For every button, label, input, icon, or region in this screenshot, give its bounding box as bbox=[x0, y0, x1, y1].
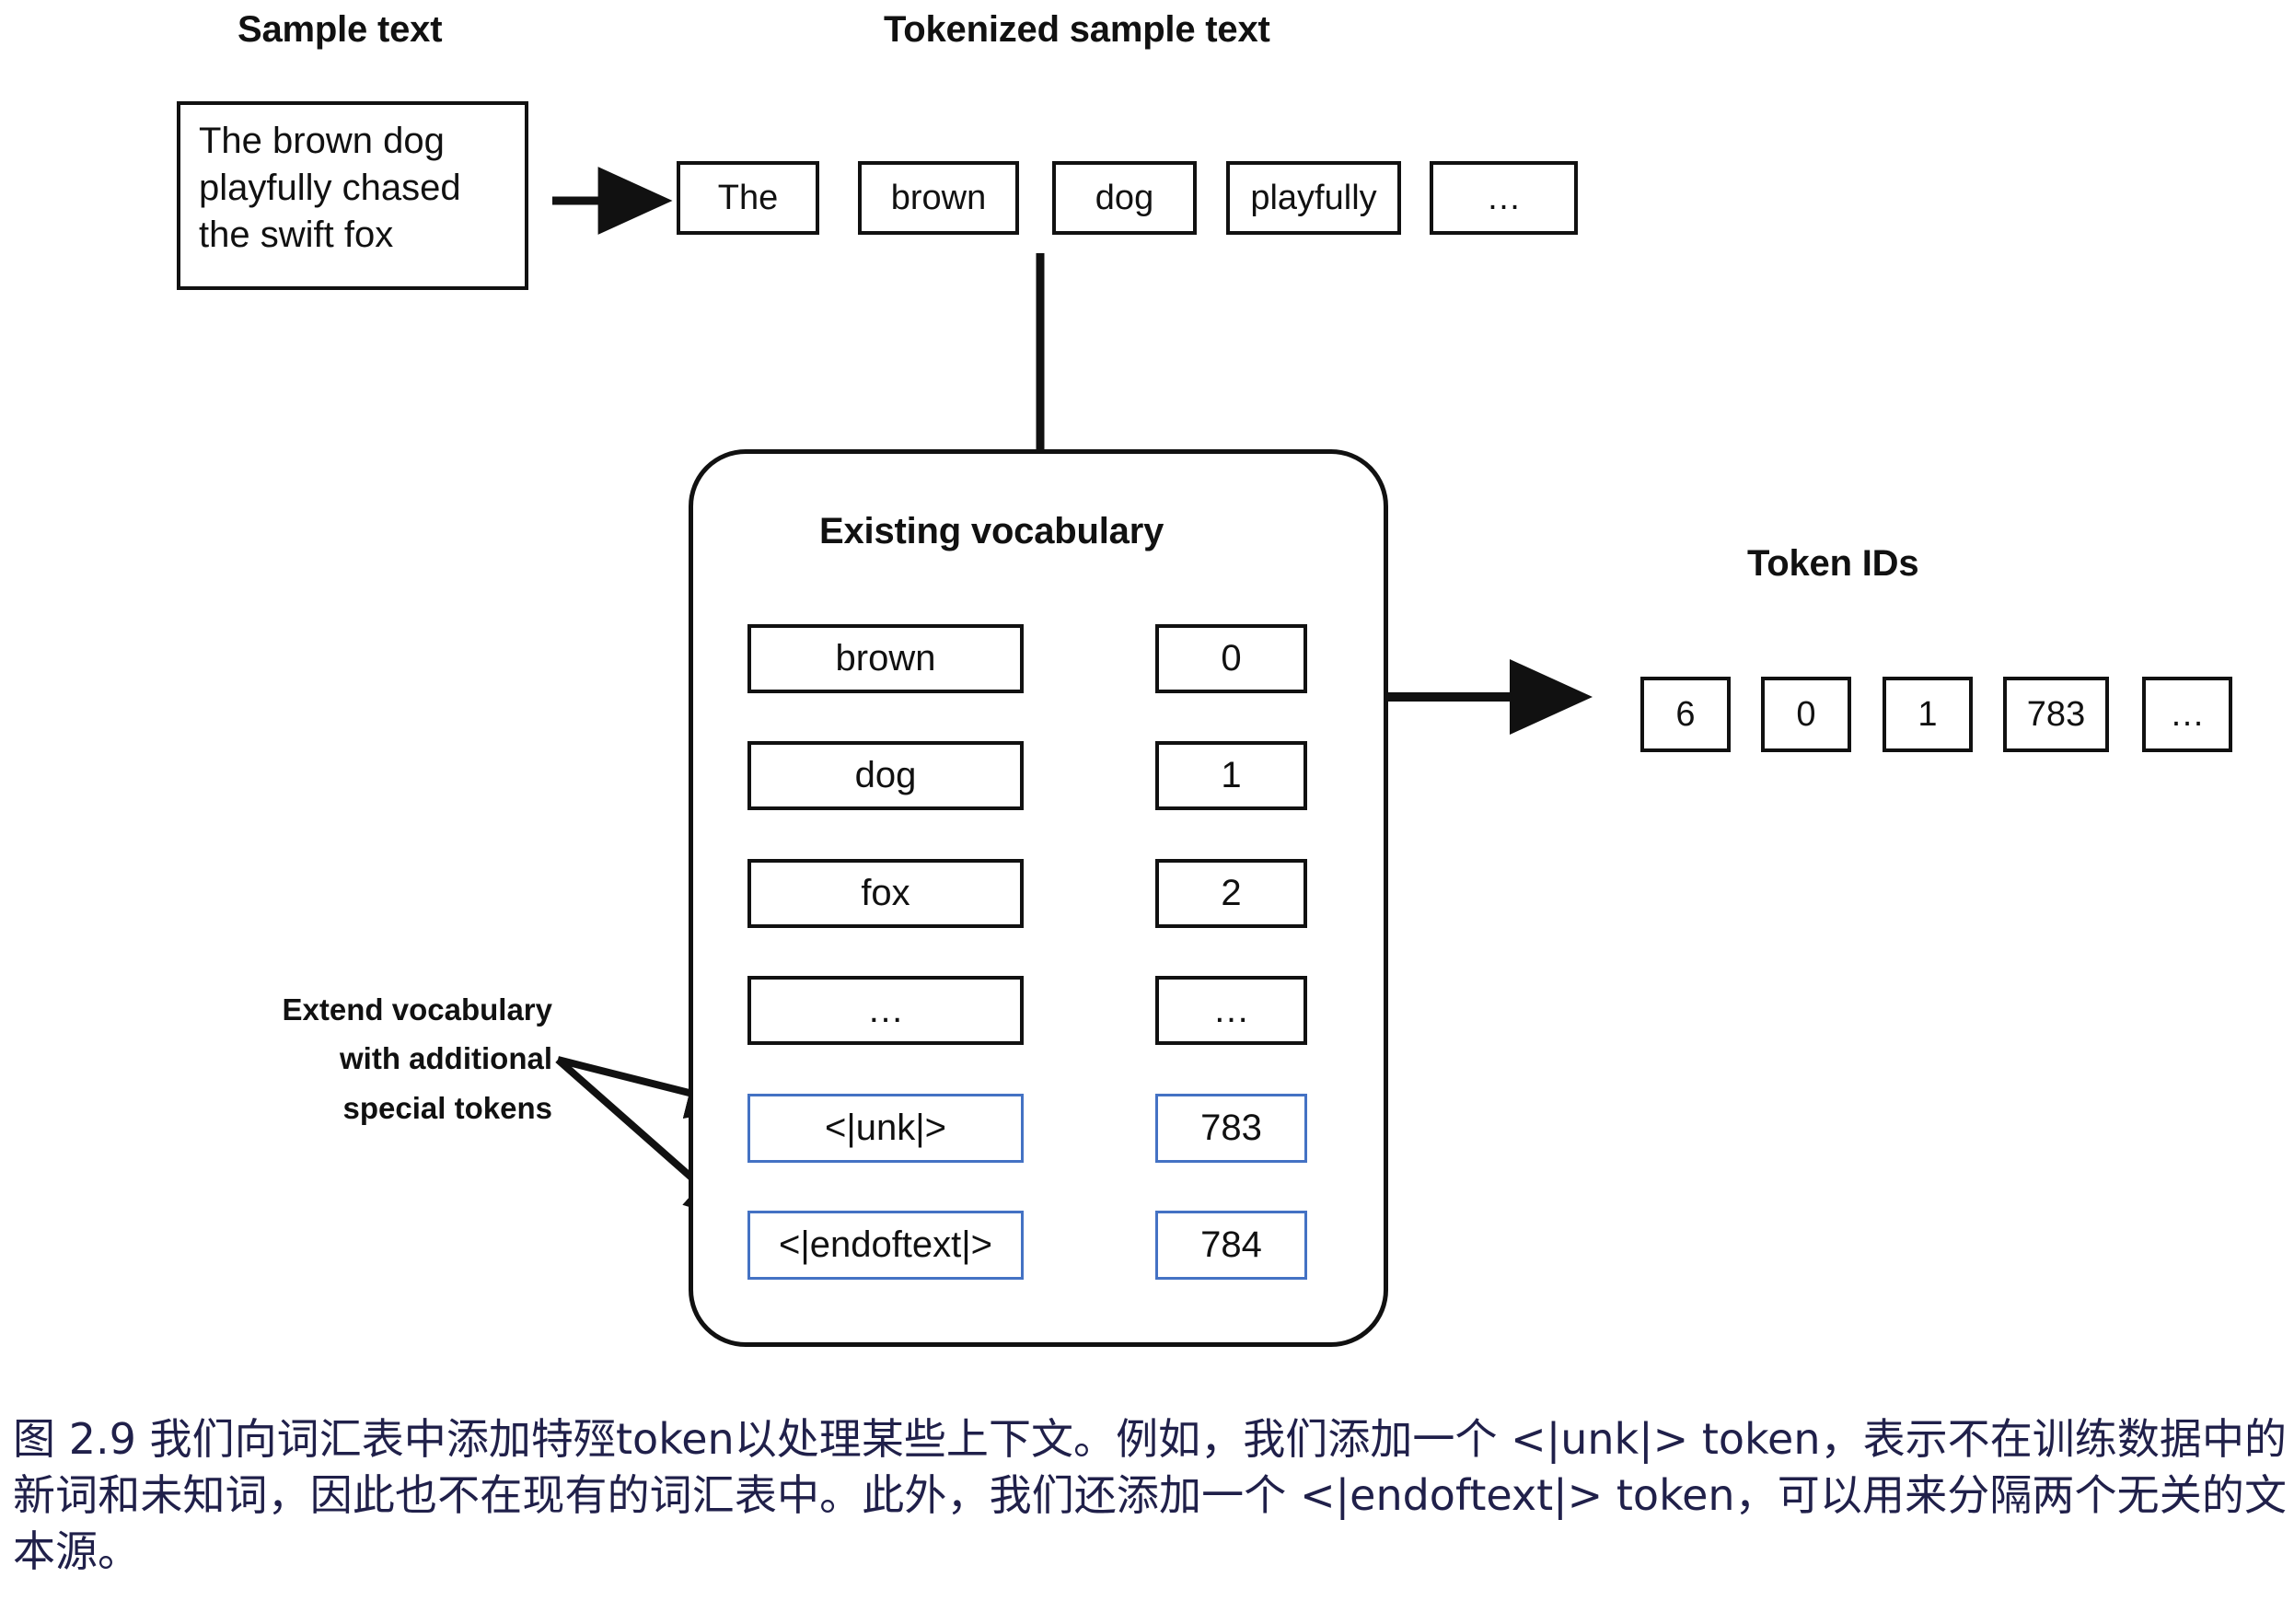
annotation-line-1: Extend vocabulary bbox=[184, 985, 552, 1034]
heading-token-ids: Token IDs bbox=[1747, 543, 1918, 585]
vocab-id-box-3: … bbox=[1155, 976, 1307, 1045]
sample-text-box: The brown dog playfully chased the swift… bbox=[177, 101, 528, 290]
annotation-extend-vocabulary: Extend vocabulary with additional specia… bbox=[184, 985, 552, 1132]
vocab-id-box-0: 0 bbox=[1155, 624, 1307, 693]
annotation-line-3: special tokens bbox=[184, 1084, 552, 1132]
token-box-0: The bbox=[677, 161, 819, 235]
token-box-1: brown bbox=[858, 161, 1019, 235]
annotation-line-2: with additional bbox=[184, 1034, 552, 1083]
heading-sample-text: Sample text bbox=[238, 9, 442, 51]
token-id-box-0: 6 bbox=[1640, 677, 1731, 752]
vocab-id-box-5: 784 bbox=[1155, 1211, 1307, 1280]
token-id-box-4: … bbox=[2142, 677, 2232, 752]
vocab-word-box-0: brown bbox=[747, 624, 1024, 693]
token-box-3: playfully bbox=[1226, 161, 1401, 235]
sample-text-line-3: the swift fox bbox=[199, 212, 508, 259]
sample-text-line-1: The brown dog bbox=[199, 118, 508, 165]
vocab-id-box-4: 783 bbox=[1155, 1094, 1307, 1163]
heading-tokenized-sample-text: Tokenized sample text bbox=[884, 9, 1270, 51]
vocab-word-box-4: <|unk|> bbox=[747, 1094, 1024, 1163]
vocab-id-box-2: 2 bbox=[1155, 859, 1307, 928]
vocab-word-box-1: dog bbox=[747, 741, 1024, 810]
token-id-box-3: 783 bbox=[2003, 677, 2109, 752]
vocab-word-box-3: … bbox=[747, 976, 1024, 1045]
vocab-id-box-1: 1 bbox=[1155, 741, 1307, 810]
vocab-word-box-2: fox bbox=[747, 859, 1024, 928]
token-box-2: dog bbox=[1052, 161, 1197, 235]
token-id-box-1: 0 bbox=[1761, 677, 1851, 752]
token-id-box-2: 1 bbox=[1883, 677, 1973, 752]
vocab-word-box-5: <|endoftext|> bbox=[747, 1211, 1024, 1280]
sample-text-line-2: playfully chased bbox=[199, 165, 508, 212]
token-box-4: … bbox=[1430, 161, 1578, 235]
figure-caption: 图 2.9 我们向词汇表中添加特殌token以处理某些上下文。例如，我们添加一个… bbox=[13, 1411, 2287, 1581]
heading-existing-vocabulary: Existing vocabulary bbox=[819, 511, 1164, 552]
